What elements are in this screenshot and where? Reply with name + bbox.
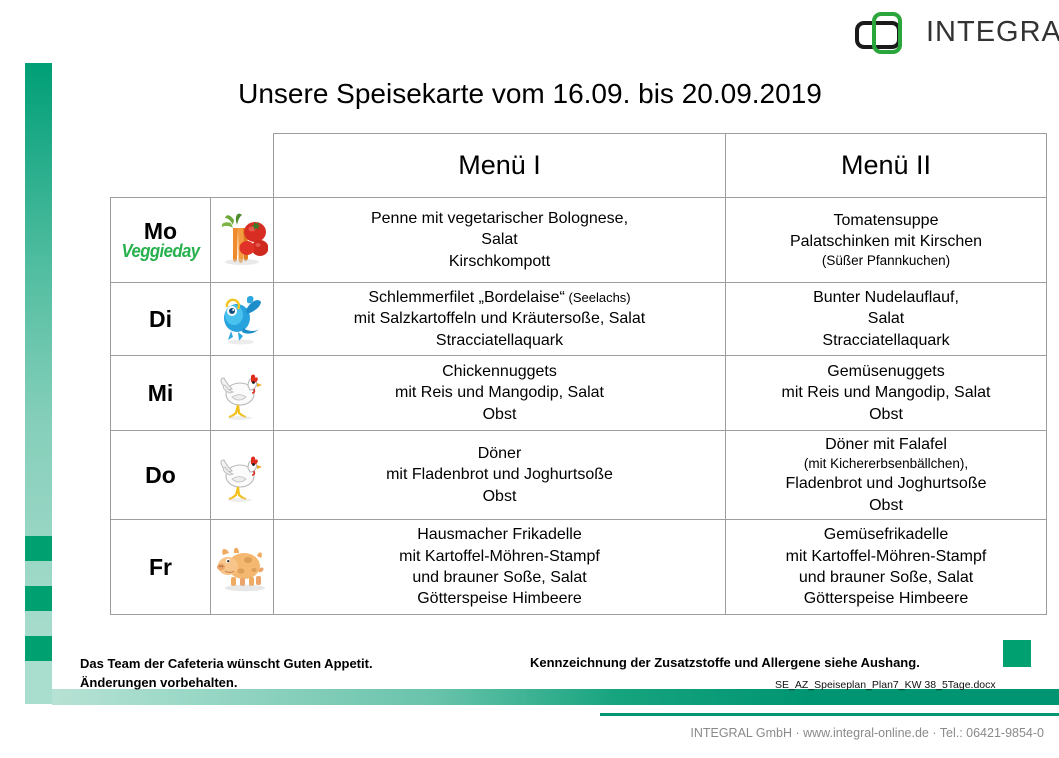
food-image-cell	[211, 520, 274, 615]
day-label-cell: Mi	[111, 356, 211, 431]
menu-line: Gemüsenuggets	[726, 361, 1046, 382]
pig-icon	[214, 540, 270, 594]
veggieday-badge: Veggieday	[114, 242, 206, 261]
menu-line: und brauner Soße, Salat	[274, 567, 725, 588]
menu-line: Penne mit vegetarischer Bolognese,	[274, 208, 725, 229]
chicken-icon	[218, 364, 266, 422]
sidebar-accent-block-2	[25, 586, 52, 611]
menu-1-cell: Schlemmerfilet „Bordelaise“ (Seelachs) m…	[274, 283, 726, 356]
day-label-cell: Do	[111, 431, 211, 520]
table-header-row: Menü I Menü II	[111, 134, 1047, 198]
menu-line: mit Kartoffel-Möhren-Stampf	[726, 546, 1046, 567]
menu-line: Tomatensuppe	[726, 210, 1046, 231]
sidebar-bottom-segment	[25, 661, 52, 704]
footer-left-text: Das Team der Cafeteria wünscht Guten App…	[80, 655, 373, 693]
menu-line-text: Schlemmerfilet „Bordelaise“	[368, 289, 565, 306]
page-title: Unsere Speisekarte vom 16.09. bis 20.09.…	[110, 78, 950, 110]
menu-line: Götterspeise Himbeere	[274, 588, 725, 609]
menu-1-cell: Chickennuggets mit Reis und Mangodip, Sa…	[274, 356, 726, 431]
footer-appetit-line: Das Team der Cafeteria wünscht Guten App…	[80, 655, 373, 674]
footer-allergen-note: Kennzeichnung der Zusatzstoffe und Aller…	[530, 655, 920, 670]
sidebar-accent-block-3	[25, 636, 52, 661]
day-abbrev: Di	[149, 306, 172, 332]
menu-line: Stracciatellaquark	[726, 330, 1046, 351]
menu-2-cell: Döner mit Falafel (mit Kichererbsenbällc…	[726, 431, 1047, 520]
menu-line: mit Kartoffel-Möhren-Stampf	[274, 546, 725, 567]
menu-table: Menü I Menü II Mo Veggieday	[110, 133, 1047, 615]
menu-line: Kirschkompott	[274, 251, 725, 272]
menu-line: Stracciatellaquark	[274, 330, 725, 351]
table-row: Fr	[111, 520, 1047, 615]
menu-line: Obst	[726, 495, 1046, 516]
menu-line: mit Salzkartoffeln und Kräutersoße, Sala…	[274, 308, 725, 329]
header-menu-1: Menü I	[274, 134, 726, 198]
food-image-cell	[211, 356, 274, 431]
footer-file-name: SE_AZ_Speiseplan_Plan7_KW 38_5Tage.docx	[775, 679, 996, 691]
menu-line: Döner	[274, 443, 725, 464]
menu-line: Salat	[274, 229, 725, 250]
food-image-cell	[211, 283, 274, 356]
menu-line: Obst	[726, 404, 1046, 425]
day-abbrev: Do	[145, 462, 176, 488]
menu-line: mit Reis und Mangodip, Salat	[274, 382, 725, 403]
header-image-blank	[211, 134, 274, 198]
food-image-cell	[211, 431, 274, 520]
menu-2-cell: Gemüsefrikadelle mit Kartoffel-Möhren-St…	[726, 520, 1047, 615]
day-abbrev: Mo	[144, 218, 177, 244]
menu-line-note: (Süßer Pfannkuchen)	[726, 252, 1046, 270]
menu-line: Schlemmerfilet „Bordelaise“ (Seelachs)	[274, 287, 725, 308]
food-image-cell	[211, 198, 274, 283]
menu-line: mit Fladenbrot und Joghurtsoße	[274, 464, 725, 485]
table-row: Di	[111, 283, 1047, 356]
fish-icon	[217, 292, 267, 346]
day-abbrev: Mi	[148, 380, 174, 406]
menu-line: Hausmacher Frikadelle	[274, 524, 725, 545]
menu-line: und brauner Soße, Salat	[726, 567, 1046, 588]
day-label-cell: Fr	[111, 520, 211, 615]
menu-1-cell: Döner mit Fladenbrot und Joghurtsoße Obs…	[274, 431, 726, 520]
menu-line: mit Reis und Mangodip, Salat	[726, 382, 1046, 403]
menu-2-cell: Bunter Nudelauflauf, Salat Stracciatella…	[726, 283, 1047, 356]
menu-line: Obst	[274, 486, 725, 507]
menu-line-note: (mit Kichererbsenbällchen),	[726, 455, 1046, 473]
logo-green-rect-icon	[872, 12, 902, 54]
menu-line: Palatschinken mit Kirschen	[726, 231, 1046, 252]
header-menu-2: Menü II	[726, 134, 1047, 198]
menu-1-cell: Hausmacher Frikadelle mit Kartoffel-Möhr…	[274, 520, 726, 615]
menu-line: Obst	[274, 404, 725, 425]
chicken-icon	[218, 446, 266, 504]
menu-line: Götterspeise Himbeere	[726, 588, 1046, 609]
logo-mark-icon	[855, 10, 917, 54]
menu-line: Gemüsefrikadelle	[726, 524, 1046, 545]
menu-1-cell: Penne mit vegetarischer Bolognese, Salat…	[274, 198, 726, 283]
integral-logo: INTEGRAL	[855, 8, 1051, 56]
menu-line-note: (Seelachs)	[565, 290, 631, 305]
table-row: Do	[111, 431, 1047, 520]
day-label-cell: Di	[111, 283, 211, 356]
menu-line: Chickennuggets	[274, 361, 725, 382]
menu-line: Salat	[726, 308, 1046, 329]
header-day-blank	[111, 134, 211, 198]
company-imprint: INTEGRAL GmbH · www.integral-online.de ·…	[0, 726, 1044, 740]
menu-line: Bunter Nudelauflauf,	[726, 287, 1046, 308]
footer-changes-line: Änderungen vorbehalten.	[80, 674, 373, 693]
day-abbrev: Fr	[149, 554, 172, 580]
footer-accent-square	[1003, 640, 1031, 667]
menu-line: Fladenbrot und Joghurtsoße	[726, 473, 1046, 494]
logo-wordmark: INTEGRAL	[926, 16, 1059, 49]
day-label-cell: Mo Veggieday	[111, 198, 211, 283]
vegetables-icon	[216, 212, 268, 268]
sidebar-accent-block-1	[25, 536, 52, 561]
menu-2-cell: Gemüsenuggets mit Reis und Mangodip, Sal…	[726, 356, 1047, 431]
menu-line: Döner mit Falafel	[726, 434, 1046, 455]
menu-2-cell: Tomatensuppe Palatschinken mit Kirschen …	[726, 198, 1047, 283]
table-row: Mo Veggieday	[111, 198, 1047, 283]
table-row: Mi	[111, 356, 1047, 431]
